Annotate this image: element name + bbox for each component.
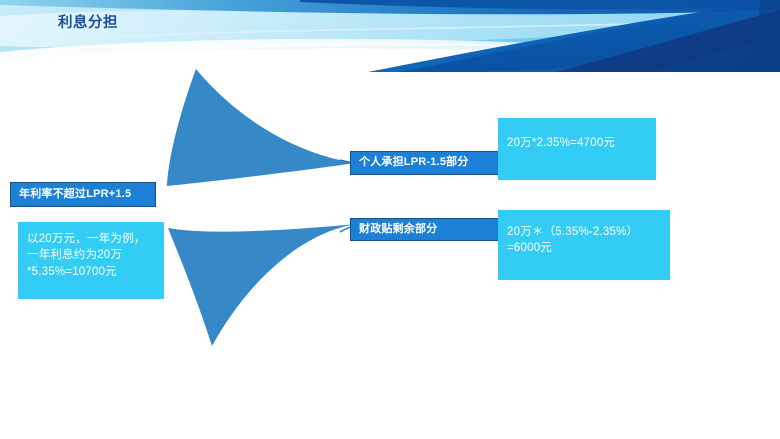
lower-swoosh-icon	[168, 224, 356, 346]
fiscal-subsidy-amount: 20万＊（5.35%-2.35%） =6000元	[507, 224, 638, 257]
fiscal-subsidy-box[interactable]: 财政贴剩余部分	[350, 218, 500, 241]
personal-share-amount: 20万*2.35%=4700元	[507, 135, 615, 151]
personal-share-amount-box[interactable]: 20万*2.35%=4700元	[498, 118, 656, 180]
example-label: 以20万元，一年为例， 一年利息约为20万 *5.35%=10700元	[27, 231, 146, 280]
upper-swoosh-icon	[167, 69, 356, 186]
rate-cap-box[interactable]: 年利率不超过LPR+1.5	[10, 182, 156, 207]
fiscal-subsidy-amount-box[interactable]: 20万＊（5.35%-2.35%） =6000元	[498, 210, 670, 280]
example-box[interactable]: 以20万元，一年为例， 一年利息约为20万 *5.35%=10700元	[18, 222, 164, 299]
personal-share-box[interactable]: 个人承担LPR-1.5部分	[350, 151, 500, 175]
fiscal-subsidy-label: 财政贴剩余部分	[359, 222, 437, 238]
page-title: 利息分担	[58, 11, 118, 32]
slide-canvas: 利息分担 年利率不超过LPR+1.5 以20万元，一年为例， 一年利息约为20万…	[0, 0, 780, 439]
rate-cap-label: 年利率不超过LPR+1.5	[19, 187, 131, 203]
personal-share-label: 个人承担LPR-1.5部分	[359, 155, 469, 171]
